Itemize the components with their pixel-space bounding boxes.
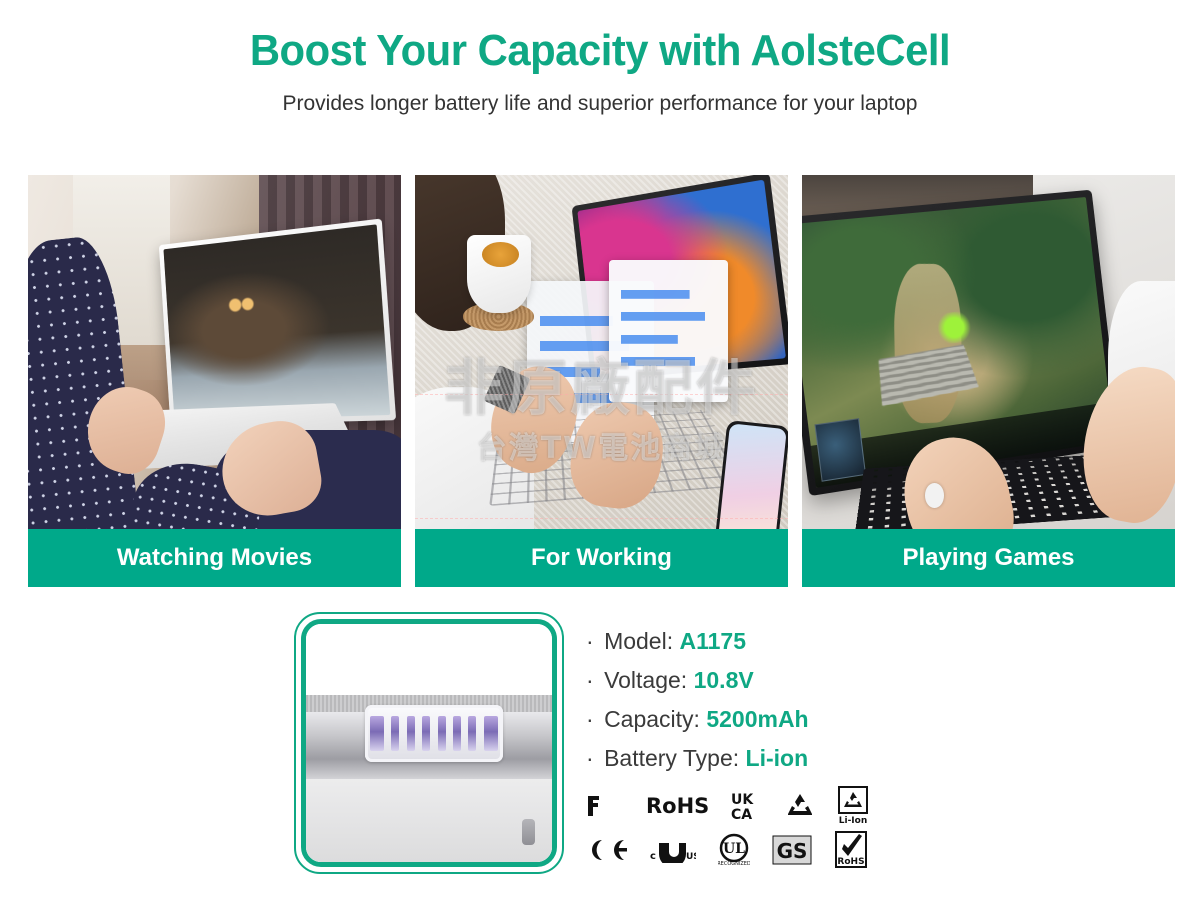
app-window-front: [609, 260, 728, 402]
card-caption: Playing Games: [802, 529, 1175, 587]
chat-bubbles: [621, 280, 719, 390]
rohs-check-icon: RoHS: [834, 831, 868, 869]
gs-icon: GS: [772, 835, 812, 865]
connector-pin: [453, 716, 461, 752]
use-case-card-playing-games[interactable]: Playing Games: [802, 175, 1175, 587]
game-stone-steps: [878, 344, 978, 406]
smartphone-screen: [718, 423, 787, 529]
rohs-text-icon: RoHS: [646, 794, 709, 818]
bullet-icon: ·: [586, 745, 594, 771]
page-header: Boost Your Capacity with AolsteCell Prov…: [0, 0, 1200, 116]
spec-value: 5200mAh: [706, 706, 808, 732]
svg-text:CA: CA: [731, 807, 752, 821]
game-minimap: [814, 418, 866, 482]
spec-value: Li-ion: [746, 745, 809, 771]
fcc-icon: [586, 794, 624, 818]
battery-product-photo: [306, 624, 552, 862]
connector-pin: [468, 716, 476, 752]
use-case-card-watching-movies[interactable]: Watching Movies: [28, 175, 401, 587]
game-spell-effect: [934, 310, 974, 345]
battery-image-frame: [294, 612, 564, 874]
watermark-guide-line: [415, 518, 788, 519]
spec-label: Model:: [604, 628, 673, 654]
finger-ring: [925, 483, 944, 508]
svg-text:RoHS: RoHS: [837, 857, 864, 867]
connector-pin: [484, 716, 498, 752]
battery-lower-body: [306, 779, 552, 862]
battery-image-inner-frame: [301, 619, 557, 867]
c-ul-us-icon: c US: [650, 837, 696, 863]
svg-text:Li-Ion: Li-Ion: [839, 816, 868, 826]
use-case-card-for-working[interactable]: 非原廠配件 台灣TW電池商城 For Working: [415, 175, 788, 587]
bullet-icon: ·: [586, 628, 594, 654]
certification-badges: RoHS UK CA: [586, 784, 906, 872]
use-case-card-row: Watching Movies: [28, 175, 1175, 587]
spec-row-capacity: · Capacity: 5200mAh: [586, 706, 906, 733]
page-subtitle: Provides longer battery life and superio…: [0, 92, 1200, 116]
ukca-icon: UK CA: [731, 791, 763, 821]
photo-watching-movies: [28, 175, 401, 529]
spec-value: 10.8V: [694, 667, 754, 693]
spec-row-voltage: · Voltage: 10.8V: [586, 667, 906, 694]
spec-row-model: · Model: A1175: [586, 628, 906, 655]
battery-latch-notch: [522, 819, 535, 845]
page-title: Boost Your Capacity with AolsteCell: [30, 26, 1170, 76]
spec-value: A1175: [680, 628, 747, 654]
laptop-lid: [159, 218, 397, 425]
connector-pin: [407, 716, 415, 752]
ul-circle-icon: UL RECOGNIZED: [718, 833, 750, 867]
bullet-icon: ·: [586, 706, 594, 732]
spec-label: Voltage:: [604, 667, 687, 693]
connector-pin: [391, 716, 399, 752]
spec-label: Capacity:: [604, 706, 700, 732]
svg-text:c: c: [650, 851, 656, 862]
connector-pin: [438, 716, 446, 752]
photo-playing-games: [802, 175, 1175, 529]
battery-connector: [365, 705, 503, 762]
svg-text:GS: GS: [777, 839, 808, 863]
connector-pin: [370, 716, 384, 752]
recycle-icon: [785, 792, 815, 820]
spec-row-battery-type: · Battery Type: Li-ion: [586, 745, 906, 772]
svg-text:UL: UL: [723, 841, 745, 857]
li-ion-recycle-icon: Li-Ion: [837, 786, 871, 826]
spec-label: Battery Type:: [604, 745, 739, 771]
laptop-screen-movie: [163, 224, 390, 421]
card-caption: For Working: [415, 529, 788, 587]
watermark-guide-line: [415, 394, 788, 395]
ce-icon: [586, 837, 628, 863]
certification-row-2: c US UL RECOGNIZED GS: [586, 828, 906, 872]
card-caption: Watching Movies: [28, 529, 401, 587]
spec-list: · Model: A1175 · Voltage: 10.8V · Capaci…: [586, 612, 906, 900]
svg-text:US: US: [686, 852, 696, 862]
certification-row-1: RoHS UK CA: [586, 784, 906, 828]
connector-pin: [422, 716, 430, 752]
bullet-icon: ·: [586, 667, 594, 693]
svg-text:RECOGNIZED: RECOGNIZED: [718, 861, 750, 867]
product-detail-section: · Model: A1175 · Voltage: 10.8V · Capaci…: [0, 612, 1200, 900]
photo-for-working: 非原廠配件 台灣TW電池商城: [415, 175, 788, 529]
svg-text:UK: UK: [731, 792, 754, 808]
smartphone: [715, 420, 788, 529]
